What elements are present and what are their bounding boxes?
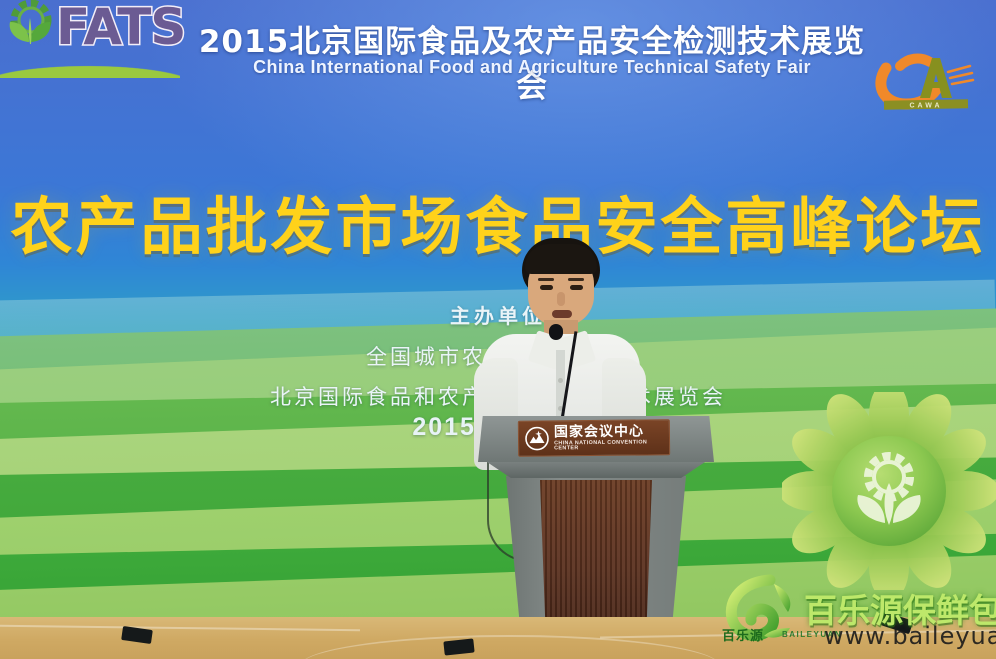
venue-name-cn: 国家会议中心 — [554, 424, 663, 439]
speaker-eye — [570, 285, 583, 290]
conference-photo: FATS 2015北京国际食品及农产品安全检测技术展览会 China Inter… — [0, 0, 996, 659]
microphone-head-icon — [549, 324, 563, 340]
fats-logo: FATS — [4, 0, 180, 80]
speaker-brow — [568, 278, 584, 281]
speaker-shirt-button — [558, 378, 563, 383]
cncc-mountain-icon — [525, 426, 549, 450]
speaker-hair-front — [525, 244, 597, 274]
floor-court-arc — [300, 635, 720, 659]
podium-wood-panel — [540, 480, 652, 631]
cawa-logo: CAWA — [870, 38, 978, 120]
sunflower-gear-plant-icon — [782, 392, 996, 590]
fats-swoosh — [0, 56, 180, 78]
speaker-brow — [538, 278, 554, 281]
watermark-brand-small-cn: 百乐源 — [722, 625, 764, 644]
venue-name-en: CHINA NATIONAL CONVENTION CENTER — [554, 440, 663, 452]
speaker-eye — [540, 285, 553, 290]
gear-leaf-icon — [0, 0, 62, 54]
watermark-url: www.baileyuan.cn — [824, 622, 996, 650]
fats-wordmark: FATS — [56, 0, 185, 56]
podium-lip — [484, 460, 708, 478]
venue-plaque-text: 国家会议中心 CHINA NATIONAL CONVENTION CENTER — [554, 424, 663, 452]
banner-title-en: China International Food and Agriculture… — [196, 57, 868, 78]
banner-header-band: FATS 2015北京国际食品及农产品安全检测技术展览会 China Inter… — [0, 0, 996, 108]
speaker-mouth — [552, 310, 572, 318]
svg-text:CAWA: CAWA — [910, 103, 943, 110]
venue-plaque: 国家会议中心 CHINA NATIONAL CONVENTION CENTER — [518, 419, 670, 457]
floor-seam — [0, 625, 360, 631]
watermark: 百乐源保鲜包装 百乐源 BAILEYUAN www.baileyuan.cn — [700, 578, 996, 659]
speaker-nose — [557, 292, 565, 306]
podium: 国家会议中心 CHINA NATIONAL CONVENTION CENTER — [478, 416, 714, 631]
